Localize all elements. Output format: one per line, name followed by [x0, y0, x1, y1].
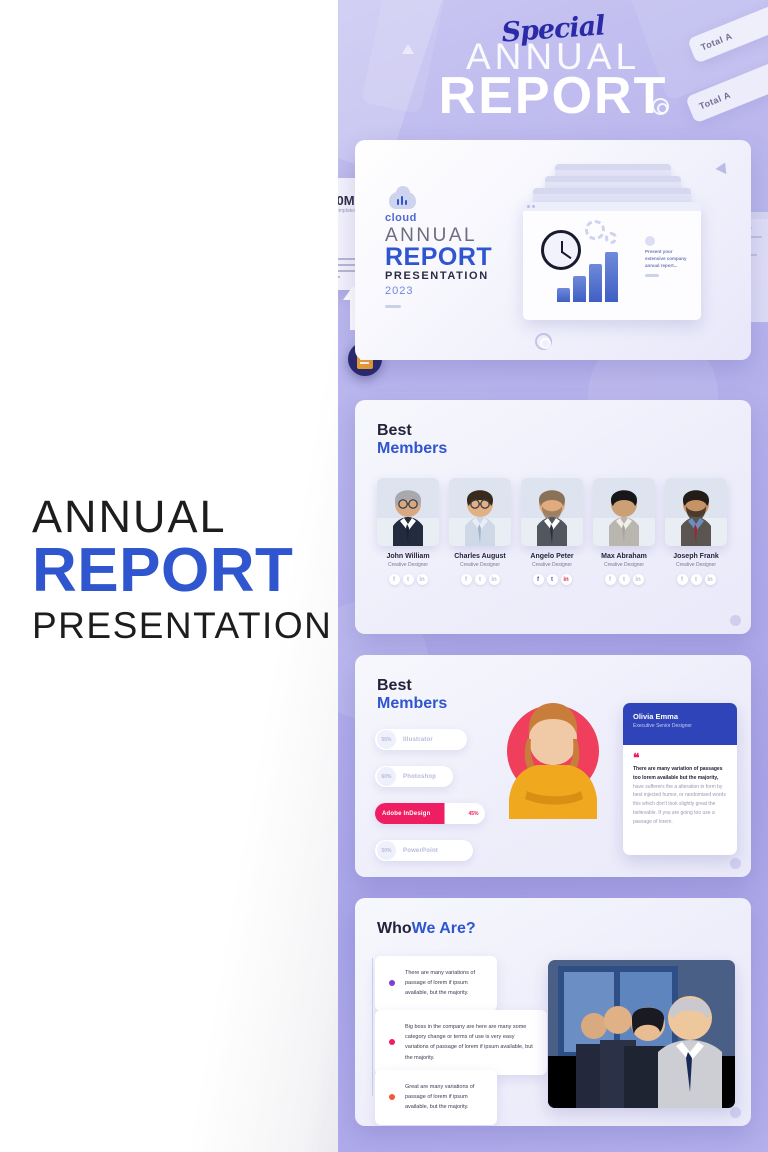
chart-bar-1 [557, 288, 570, 302]
profile-role: Executive Senior Designer [633, 723, 727, 729]
skill-bar[interactable]: 55%Illustrator [375, 729, 467, 750]
linkedin-icon[interactable]: in [705, 574, 716, 585]
member-photo [377, 478, 439, 546]
facebook-icon[interactable]: f [389, 574, 400, 585]
slide3-corner-dot [730, 858, 741, 869]
slide1-rule [385, 305, 401, 308]
member-card[interactable]: Joseph FrankCreative Designerftin [665, 478, 727, 585]
skill-bar[interactable]: Adobe InDesign45% [375, 803, 485, 824]
slide3-heading: Best Members [377, 677, 447, 714]
member-name: Max Abraham [593, 553, 655, 560]
profile-card-body: ❝ There are many variation of passages t… [623, 745, 737, 836]
bullet-dot-icon [389, 1039, 395, 1045]
twitter-icon[interactable]: t [691, 574, 702, 585]
member-photo [665, 478, 727, 546]
chart-bar-3 [589, 264, 602, 302]
member-photo [449, 478, 511, 546]
slide1-presentation: PRESENTATION [385, 270, 489, 282]
skill-label: Adobe InDesign [382, 811, 430, 817]
slide2-corner-dot [730, 615, 741, 626]
slide-thumbnail-profile[interactable]: Best Members 55%Illustrator60%PhotoshopA… [355, 655, 751, 877]
slide-thumbnail-title[interactable]: cloud ANNUAL REPORT PRESENTATION 2023 Pr… [355, 140, 751, 360]
about-point-card[interactable]: There are many variations of passage of … [375, 956, 497, 1011]
timeline-line [372, 958, 373, 1096]
member-name: Angelo Peter [521, 553, 583, 560]
profile-card: Olivia Emma Executive Senior Designer ❝ … [623, 703, 737, 855]
left-cover-panel: ANNUAL REPORT PRESENTATION [0, 0, 338, 1152]
member-name: Charles August [449, 553, 511, 560]
linkedin-icon[interactable]: in [489, 574, 500, 585]
preview-stage: Total 500M Web Templates Total A Total A… [338, 0, 768, 1152]
twitter-icon[interactable]: t [619, 574, 630, 585]
linkedin-icon[interactable]: in [417, 574, 428, 585]
member-card[interactable]: Angelo PeterCreative Designerftin [521, 478, 583, 585]
facebook-icon[interactable]: f [677, 574, 688, 585]
skill-percent: 50% [377, 841, 396, 860]
skill-label: Photoshop [403, 774, 436, 780]
member-role: Creative Designer [521, 562, 583, 568]
chart-bar-4 [605, 252, 618, 302]
member-social-links: ftin [449, 574, 511, 585]
cover-title-line-2: REPORT [32, 540, 322, 602]
member-social-links: ftin [377, 574, 439, 585]
facebook-icon[interactable]: f [461, 574, 472, 585]
facebook-icon[interactable]: f [533, 574, 544, 585]
gear-icon-1 [585, 220, 605, 240]
about-point-card[interactable]: Big boss in the company are here are man… [375, 1010, 547, 1075]
cloud-logo-text: cloud [385, 212, 417, 224]
member-card[interactable]: John WilliamCreative Designerftin [377, 478, 439, 585]
cover-title-line-3: PRESENTATION [32, 604, 322, 648]
member-social-links: ftin [665, 574, 727, 585]
gear-icon-2 [605, 232, 617, 244]
slide2-heading-b: Members [377, 440, 447, 458]
member-role: Creative Designer [377, 562, 439, 568]
header-report: REPORT [338, 66, 768, 126]
about-point-card[interactable]: Great are many variations of passage of … [375, 1070, 497, 1125]
member-role: Creative Designer [449, 562, 511, 568]
member-name: John William [377, 553, 439, 560]
bullet-dot-icon [389, 980, 395, 986]
slide4-heading: Who We Are? [377, 920, 476, 938]
slide3-heading-b: Members [377, 695, 447, 713]
member-photo [521, 478, 583, 546]
skill-percent: 60% [377, 767, 396, 786]
slide1-report: REPORT [385, 243, 492, 272]
bars-icon [397, 196, 407, 205]
skill-percent: 55% [377, 730, 396, 749]
stage-header: Special ANNUAL REPORT [338, 0, 768, 136]
cover-title-line-1: ANNUAL [32, 492, 322, 542]
member-social-links: ftin [521, 574, 583, 585]
member-role: Creative Designer [665, 562, 727, 568]
illustration-caption: Present your extensive company annual re… [645, 249, 693, 270]
skill-bar[interactable]: 60%Photoshop [375, 766, 453, 787]
profile-quote-bold: There are many variation of passages too… [633, 766, 722, 781]
cover-title-block: ANNUAL REPORT PRESENTATION [32, 492, 322, 649]
twitter-icon[interactable]: t [547, 574, 558, 585]
cloud-logo: cloud [385, 192, 417, 224]
skill-bar[interactable]: 50%PowerPoint [375, 840, 473, 861]
cloud-icon [389, 192, 416, 209]
about-point-text: Big boss in the company are here are man… [405, 1022, 533, 1063]
slide3-heading-a: Best [377, 677, 447, 695]
slide4-heading-b: We Are? [412, 920, 476, 938]
twitter-icon[interactable]: t [475, 574, 486, 585]
caption-underline [645, 274, 659, 277]
slide2-heading: Best Members [377, 422, 447, 459]
member-role: Creative Designer [593, 562, 655, 568]
facebook-icon[interactable]: f [605, 574, 616, 585]
chart-bar-2 [573, 276, 586, 302]
window-titlebar [523, 202, 701, 211]
about-point-text: There are many variations of passage of … [405, 968, 483, 999]
slide-thumbnail-members[interactable]: Best Members John WilliamCreative Design… [355, 400, 751, 634]
member-name: Joseph Frank [665, 553, 727, 560]
profile-card-header: Olivia Emma Executive Senior Designer [623, 703, 737, 745]
ring-decor-icon [652, 98, 669, 115]
illustration-window: Present your extensive company annual re… [523, 202, 701, 320]
ring-decor-icon-slide1 [535, 333, 552, 350]
slide1-year: 2023 [385, 285, 413, 297]
profile-photo [507, 695, 599, 819]
skill-percent: 45% [464, 804, 483, 823]
quote-mark-icon: ❝ [633, 755, 727, 762]
member-card[interactable]: Charles AugustCreative Designerftin [449, 478, 511, 585]
slide4-heading-a: Who [377, 920, 412, 938]
member-card[interactable]: Max AbrahamCreative Designerftin [593, 478, 655, 585]
member-photo [593, 478, 655, 546]
paper-plane-icon [715, 160, 730, 174]
team-photo [548, 960, 735, 1108]
profile-name: Olivia Emma [633, 712, 727, 721]
skill-label: PowerPoint [403, 848, 438, 854]
linkedin-icon[interactable]: in [633, 574, 644, 585]
clock-icon [541, 230, 581, 270]
linkedin-icon[interactable]: in [561, 574, 572, 585]
skill-label: Illustrator [403, 737, 433, 743]
illustration-caption-block: Present your extensive company annual re… [645, 236, 693, 277]
triangle-decor-icon [402, 44, 414, 54]
twitter-icon[interactable]: t [403, 574, 414, 585]
slide-thumbnail-about[interactable]: Who We Are? There are many variations of… [355, 898, 751, 1126]
slide2-heading-a: Best [377, 422, 447, 440]
member-social-links: ftin [593, 574, 655, 585]
about-point-text: Great are many variations of passage of … [405, 1082, 483, 1113]
profile-quote-rest: have sufferers the a alteration in form … [633, 784, 726, 825]
bullet-dot-icon [389, 1094, 395, 1100]
slide4-corner-dot [730, 1107, 741, 1118]
mini-logo-icon [645, 236, 655, 246]
